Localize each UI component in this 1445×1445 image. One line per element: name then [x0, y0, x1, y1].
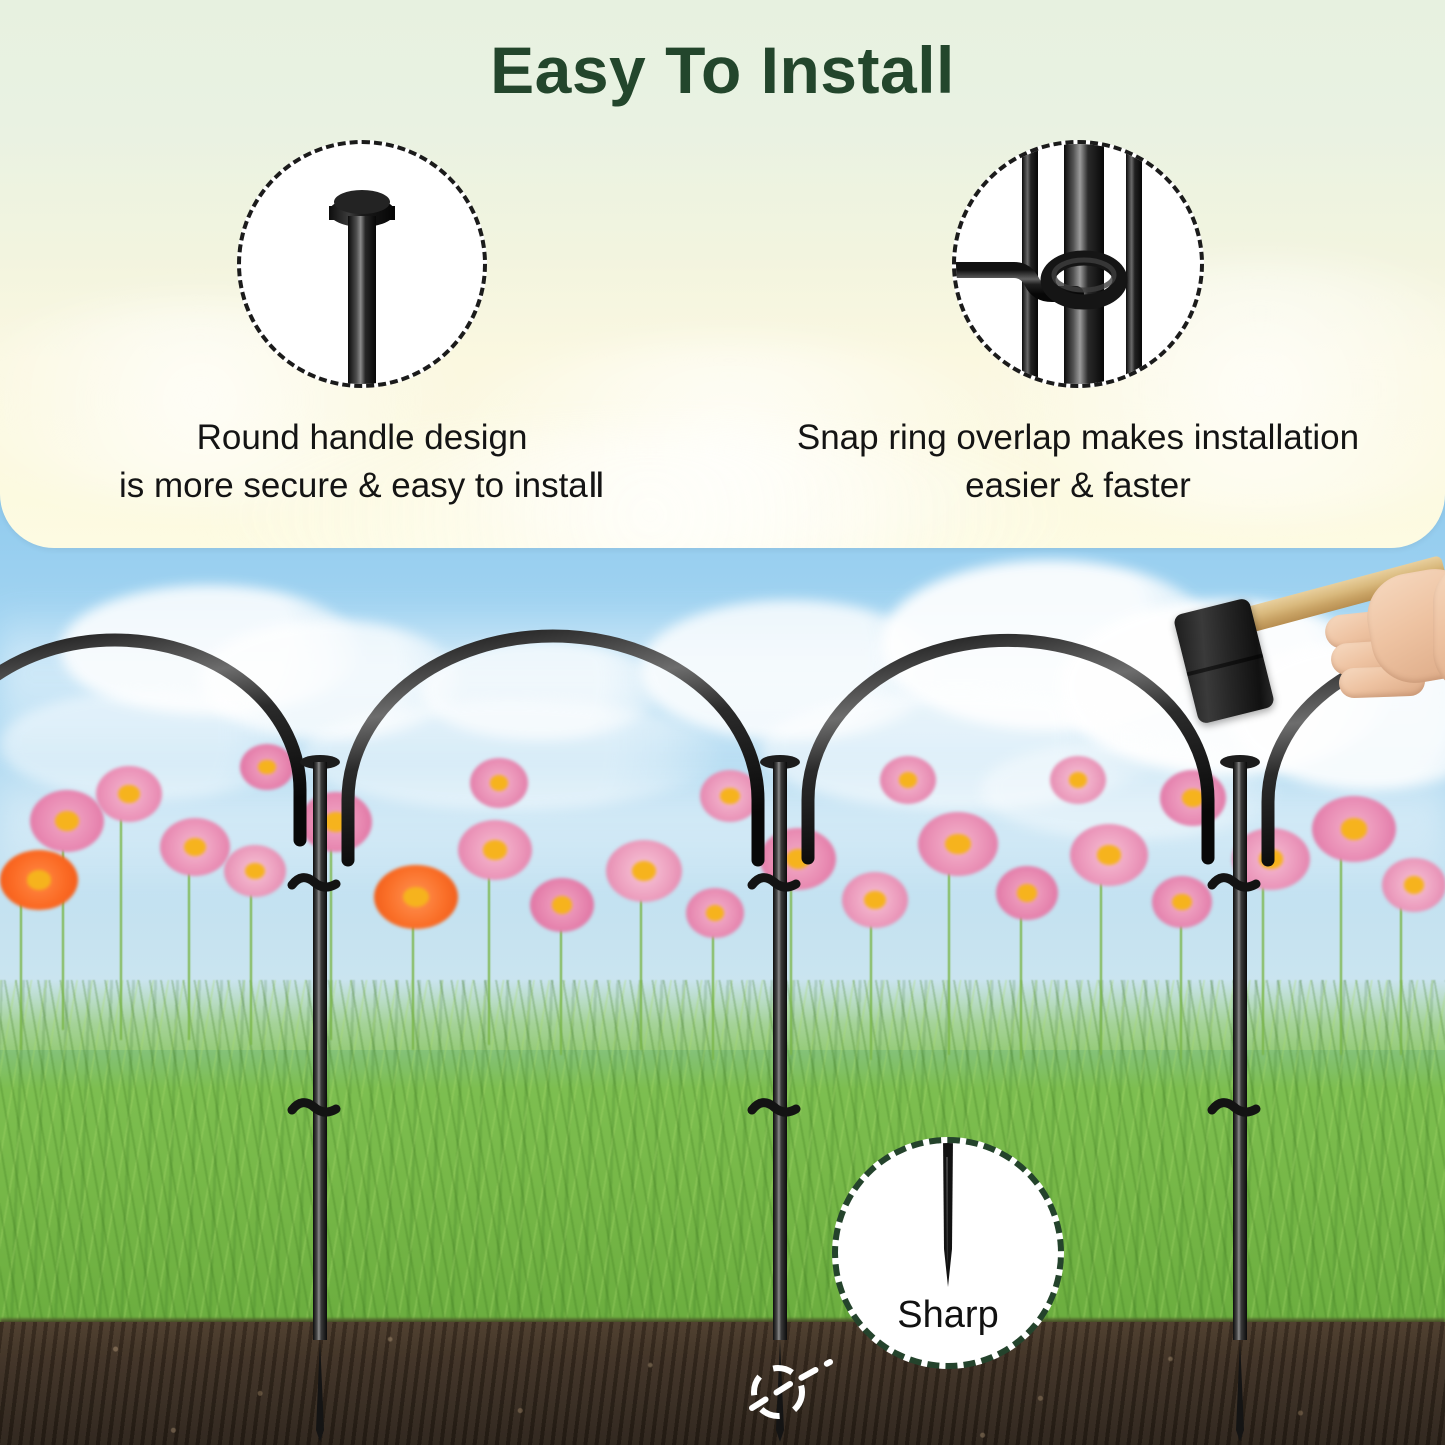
- connector-stake: [1212, 755, 1260, 1442]
- sharp-label: Sharp: [838, 1294, 1058, 1337]
- feature-image-frame: [237, 140, 487, 388]
- hand-holding-mallet: [1315, 565, 1445, 700]
- feature-image-frame: [952, 140, 1204, 388]
- round-stake-head-icon: [303, 190, 421, 388]
- feature-caption-line2: is more secure & easy to instaⅡ: [12, 462, 712, 510]
- feature-caption-line2: easier & faster: [728, 462, 1428, 510]
- feature-round-handle: Round handle design is more secure & eas…: [12, 140, 712, 509]
- connector-stake: [292, 755, 340, 1442]
- sharp-stake-tip-icon: [925, 1137, 971, 1307]
- page-title: Easy To Install: [0, 32, 1445, 108]
- sharp-callout: Sharp: [832, 1137, 1064, 1369]
- rubber-mallet-icon: [1175, 565, 1445, 745]
- feature-caption: Round handle design is more secure & eas…: [12, 414, 712, 509]
- feature-caption-line1: Round handle design: [12, 414, 712, 462]
- feature-snap-ring: Snap ring overlap makes installation eas…: [728, 140, 1428, 509]
- feature-caption: Snap ring overlap makes installation eas…: [728, 414, 1428, 509]
- info-panel: Easy To Install: [0, 0, 1445, 548]
- product-infographic: Sharp Easy To Install: [0, 0, 1445, 1445]
- feature-caption-line1: Snap ring overlap makes installation: [728, 414, 1428, 462]
- snap-ring-overlap-icon: [956, 144, 1204, 388]
